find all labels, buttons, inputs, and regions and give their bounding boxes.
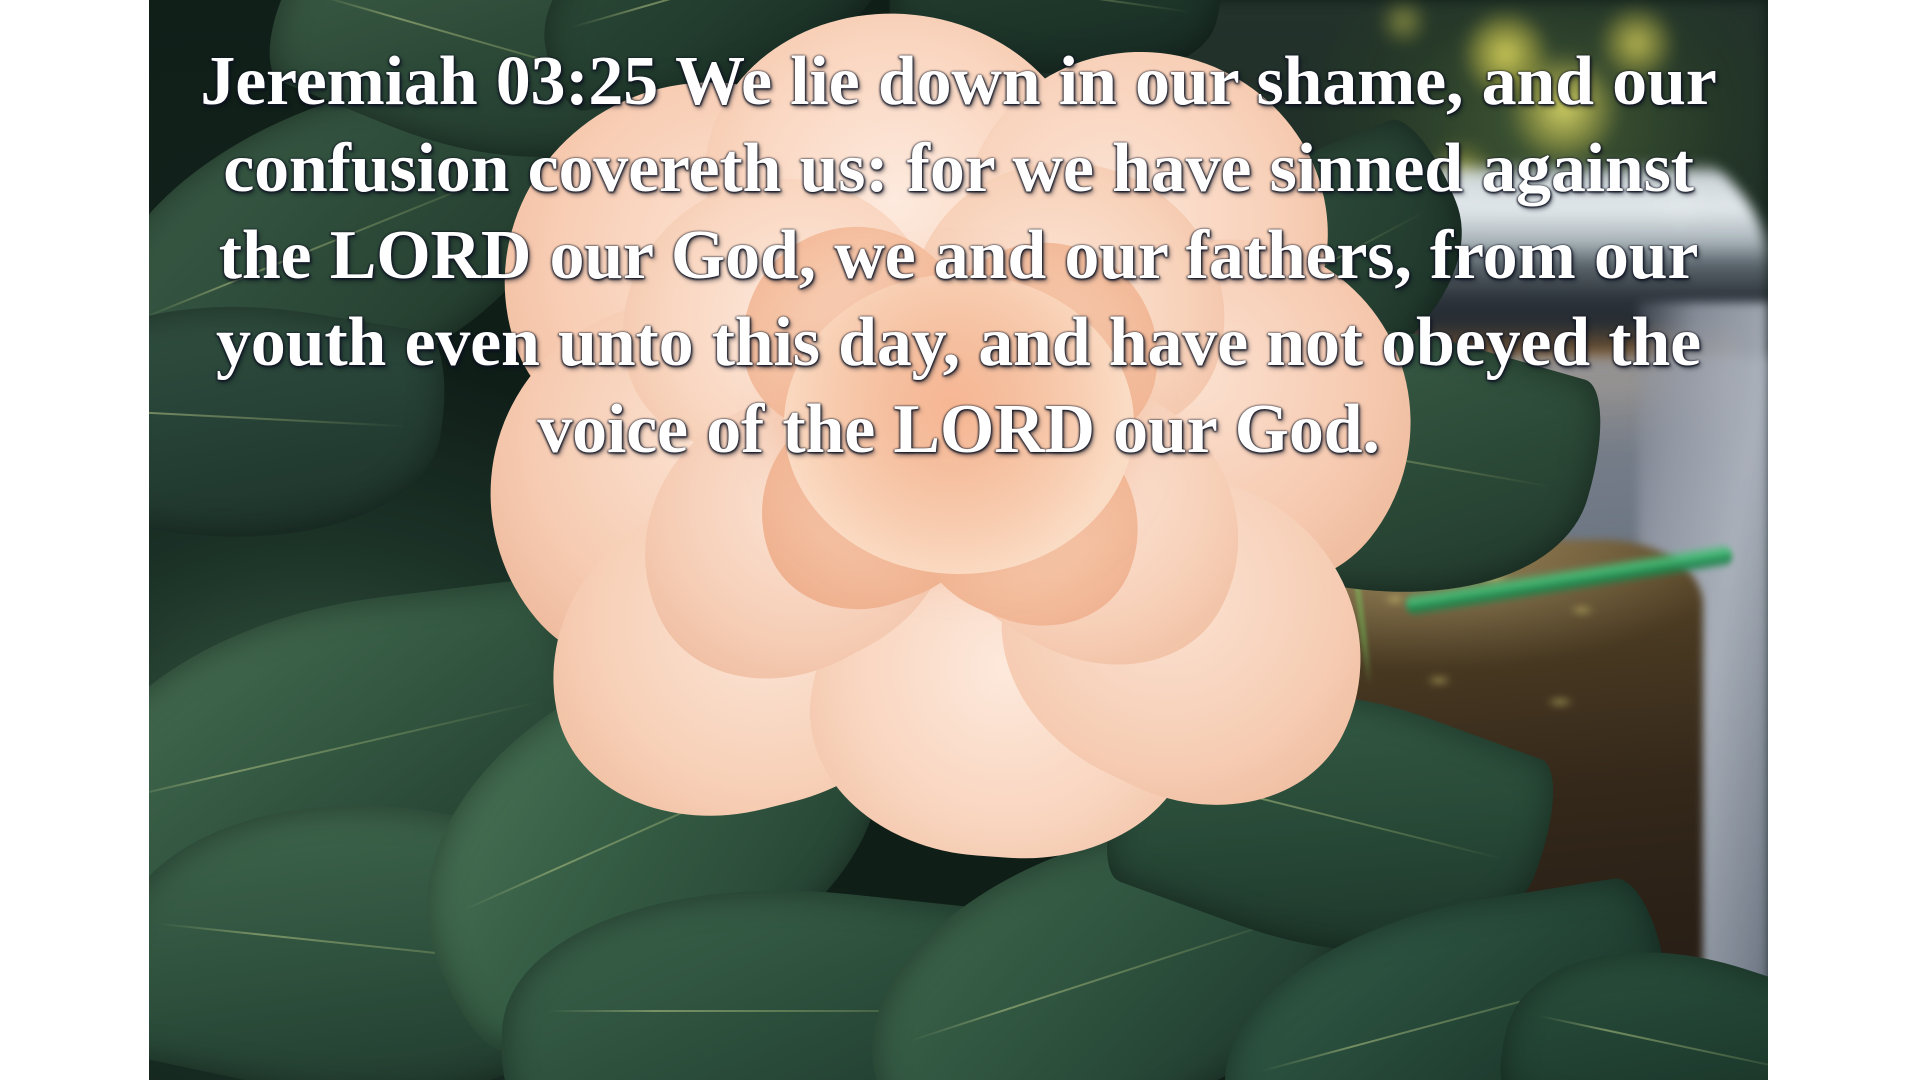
slide-canvas: Jeremiah 03:25 We lie down in our shame,… [0, 0, 1920, 1080]
scripture-verse-text: Jeremiah 03:25 We lie down in our shame,… [149, 0, 1768, 473]
